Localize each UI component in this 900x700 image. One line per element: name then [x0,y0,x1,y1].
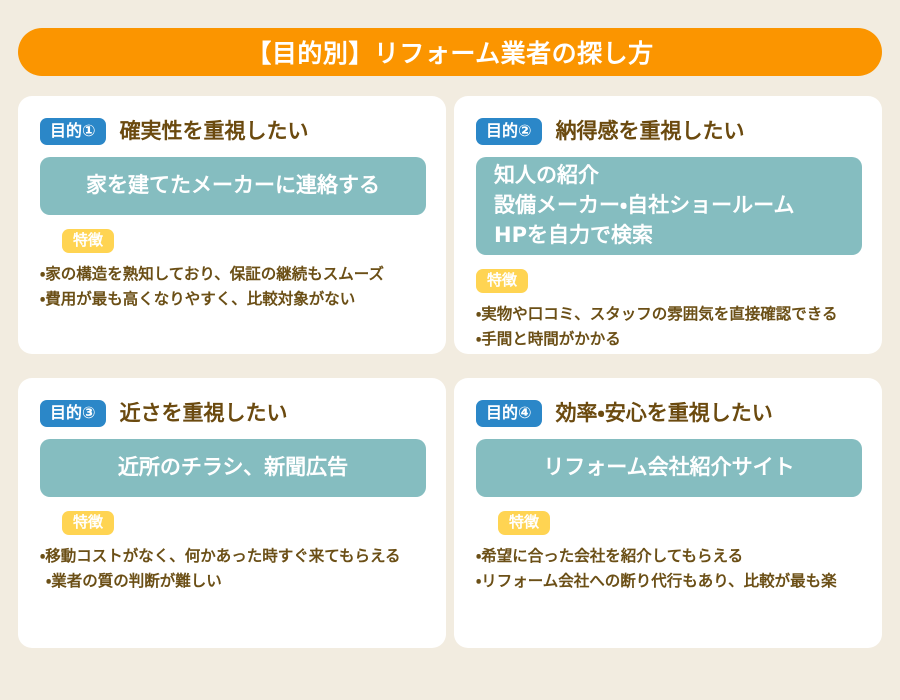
card-inner: 目的④ 効率・安心を重視したい リフォーム会社紹介サイト 特徴 ・希望に合った会… [454,378,882,648]
purpose-badge: 目的③ [40,400,106,427]
card-heading: 確実性を重視したい [120,120,309,143]
purpose-card-2: 目的② 納得感を重視したい 知人の紹介 設備メーカー・自社ショールーム HPを自… [454,96,882,354]
feature-badge: 特徴 [476,269,528,293]
purpose-card-3: 目的③ 近さを重視したい 近所のチラシ、新聞広告 特徴 ・移動コストがなく、何か… [18,378,446,648]
purpose-card-1: 目的① 確実性を重視したい 家を建てたメーカーに連絡する 特徴 ・家の構造を熟知… [18,96,446,354]
page-title-banner: 【目的別】リフォーム業者の探し方 [18,28,882,76]
purpose-badge: 目的① [40,118,106,145]
list-item: ・家の構造を熟知しており、保証の継続もスムーズ [40,262,426,287]
purpose-card-4: 目的④ 効率・安心を重視したい リフォーム会社紹介サイト 特徴 ・希望に合った会… [454,378,882,648]
card-heading: 近さを重視したい [120,402,288,425]
card-inner: 目的③ 近さを重視したい 近所のチラシ、新聞広告 特徴 ・移動コストがなく、何か… [18,378,446,648]
purpose-badge: 目的② [476,118,542,145]
card-grid: 目的① 確実性を重視したい 家を建てたメーカーに連絡する 特徴 ・家の構造を熟知… [18,96,882,648]
answer-line: リフォーム会社紹介サイト [543,453,794,483]
page-title: 【目的別】リフォーム業者の探し方 [246,34,653,70]
answer-box: 近所のチラシ、新聞広告 [40,439,426,497]
answer-box: 知人の紹介 設備メーカー・自社ショールーム HPを自力で検索 [476,157,862,255]
list-item: ・実物や口コミ、スタッフの雰囲気を直接確認できる [476,302,862,327]
purpose-badge: 目的④ [476,400,542,427]
list-item: ・手間と時間がかかる [476,327,862,352]
answer-line: 近所のチラシ、新聞広告 [118,453,348,483]
card-header: 目的④ 効率・安心を重視したい [476,400,862,427]
answer-line: 設備メーカー・自社ショールーム [494,191,795,221]
card-heading: 効率・安心を重視したい [556,402,773,425]
feature-bullet-list: ・移動コストがなく、何かあった時すぐ来てもらえる ・業者の質の判断が難しい [40,544,426,594]
list-item: ・移動コストがなく、何かあった時すぐ来てもらえる [40,544,426,569]
card-header: 目的③ 近さを重視したい [40,400,426,427]
list-item: ・業者の質の判断が難しい [46,569,426,594]
feature-bullet-list: ・希望に合った会社を紹介してもらえる ・リフォーム会社への断り代行もあり、比較が… [476,544,862,594]
card-header: 目的② 納得感を重視したい [476,118,862,145]
card-inner: 目的① 確実性を重視したい 家を建てたメーカーに連絡する 特徴 ・家の構造を熟知… [18,96,446,354]
infographic-page: 【目的別】リフォーム業者の探し方 目的① 確実性を重視したい 家を建てたメーカー… [0,0,900,700]
card-inner: 目的② 納得感を重視したい 知人の紹介 設備メーカー・自社ショールーム HPを自… [454,96,882,354]
feature-badge: 特徴 [62,511,114,535]
feature-bullet-list: ・家の構造を熟知しており、保証の継続もスムーズ ・費用が最も高くなりやすく、比較… [40,262,426,312]
list-item: ・希望に合った会社を紹介してもらえる [476,544,862,569]
feature-bullet-list: ・実物や口コミ、スタッフの雰囲気を直接確認できる ・手間と時間がかかる [476,302,862,352]
list-item: ・リフォーム会社への断り代行もあり、比較が最も楽 [476,569,862,594]
answer-box: 家を建てたメーカーに連絡する [40,157,426,215]
feature-badge: 特徴 [62,229,114,253]
card-header: 目的① 確実性を重視したい [40,118,426,145]
answer-line: 家を建てたメーカーに連絡する [86,171,380,201]
answer-line: 知人の紹介 [494,161,599,191]
feature-badge: 特徴 [498,511,550,535]
list-item: ・費用が最も高くなりやすく、比較対象がない [40,287,426,312]
answer-line: HPを自力で検索 [494,221,653,251]
card-heading: 納得感を重視したい [556,120,745,143]
answer-box: リフォーム会社紹介サイト [476,439,862,497]
